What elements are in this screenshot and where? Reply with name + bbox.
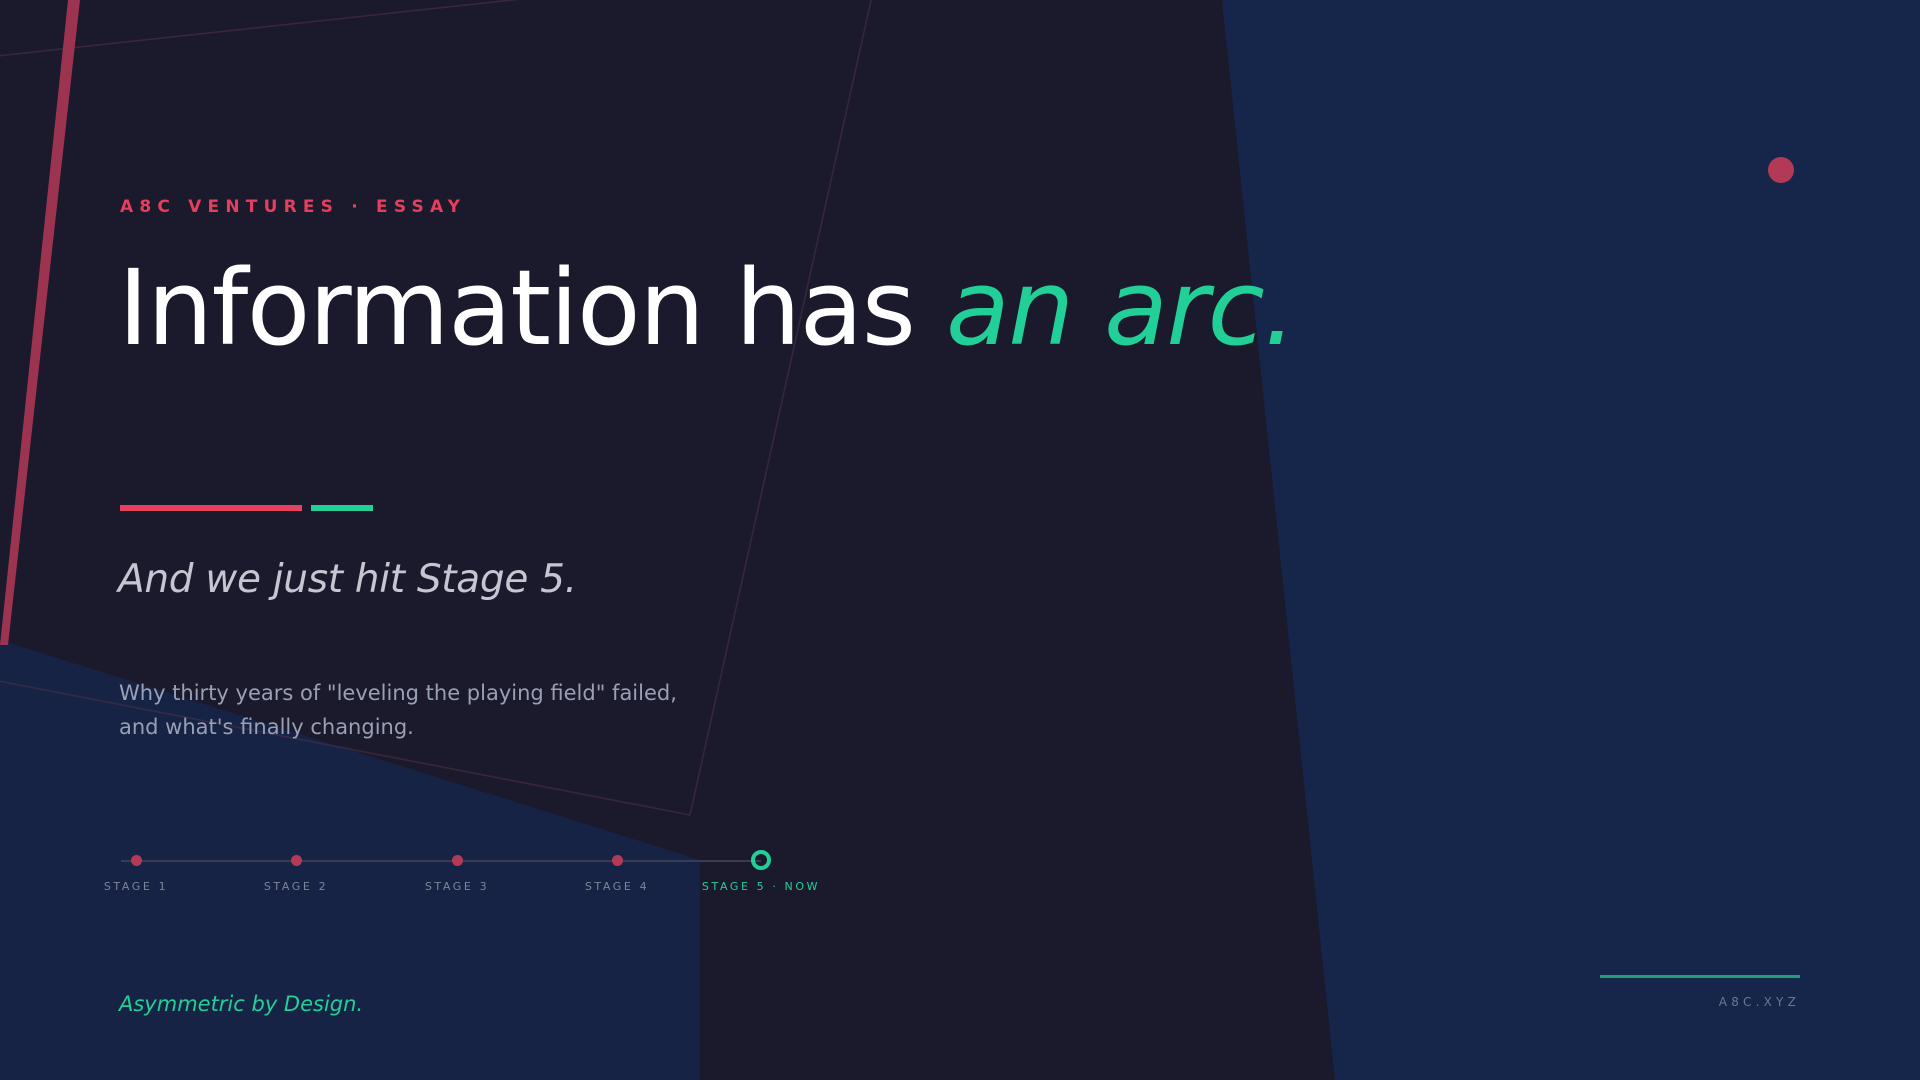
subtitle: And we just hit Stage 5. (118, 557, 577, 602)
eyebrow-label: A8C VENTURES · ESSAY (120, 197, 466, 217)
timeline-dot-icon (612, 855, 623, 866)
teal-rule (311, 505, 373, 511)
timeline-node-4[interactable]: STAGE 4 (600, 844, 634, 866)
timeline-node-label: STAGE 4 (585, 880, 649, 893)
timeline-node-list: STAGE 1STAGE 2STAGE 3STAGE 4STAGE 5 · NO… (119, 844, 789, 878)
headline-plain-text: Information has (118, 247, 946, 369)
timeline-node-label: STAGE 5 · NOW (702, 880, 820, 893)
hero-content: A8C VENTURES · ESSAY Information has an … (0, 0, 1920, 1080)
timeline-node-label: STAGE 3 (425, 880, 489, 893)
brand-block: A8C.XYZ (1600, 975, 1800, 1009)
accent-rule-group (120, 505, 373, 511)
page-title: Information has an arc. (118, 248, 1295, 369)
timeline-node-1[interactable]: STAGE 1 (119, 844, 153, 866)
timeline-node-5[interactable]: STAGE 5 · NOW (744, 844, 778, 870)
slide-canvas: A8C VENTURES · ESSAY Information has an … (0, 0, 1920, 1080)
footer-tagline: Asymmetric by Design. (119, 992, 363, 1016)
body-paragraph: Why thirty years of "leveling the playin… (119, 676, 677, 744)
headline-accent-text: an arc. (946, 247, 1295, 369)
timeline-dot-icon (452, 855, 463, 866)
timeline-dot-icon (131, 855, 142, 866)
timeline-node-2[interactable]: STAGE 2 (279, 844, 313, 866)
timeline-active-ring-icon (751, 850, 771, 870)
crimson-rule (120, 505, 302, 511)
timeline-node-label: STAGE 2 (264, 880, 328, 893)
timeline-dot-icon (291, 855, 302, 866)
timeline-node-label: STAGE 1 (104, 880, 168, 893)
stage-timeline: STAGE 1STAGE 2STAGE 3STAGE 4STAGE 5 · NO… (119, 844, 789, 878)
timeline-node-3[interactable]: STAGE 3 (440, 844, 474, 866)
brand-rule (1600, 975, 1800, 978)
brand-url-label: A8C.XYZ (1600, 995, 1800, 1009)
